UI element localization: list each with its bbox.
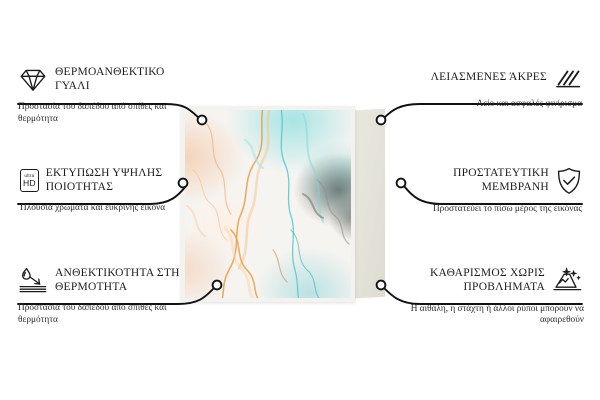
feature-callout-heat-resistant-glass: ΘΕΡΜΟΑΝΘΕΚΤΙΚΟ ΓΥΑΛΙ Προστασία του δαπέδ… (18, 66, 186, 125)
feature-title: ΚΑΘΑΡΙΣΜΟΣ ΧΩΡΙΣ ΠΡΟΒΛΗΜΑΤΑ (398, 267, 545, 294)
artwork-veins (185, 110, 351, 298)
glass-panel-front (181, 106, 355, 302)
feature-callout-heat-durability: ΑΝΘΕΚΤΙΚΟΤΗΤΑ ΣΤΗ ΘΕΡΜΟΤΗΤΑ Προστασία το… (18, 267, 188, 326)
feature-callout-easy-cleaning: ΚΑΘΑΡΙΣΜΟΣ ΧΩΡΙΣ ΠΡΟΒΛΗΜΑΤΑ Η αιθάλη, η … (398, 267, 584, 327)
connector-dot-5 (397, 179, 406, 188)
feature-title: ΠΡΟΣΤΑΤΕΥΤΙΚΗ ΜΕΜΒΡΑΝΗ (412, 167, 549, 194)
ultra-hd-icon-bottom-label: HD (23, 179, 36, 188)
infographic-canvas: ΘΕΡΜΟΑΝΘΕΚΤΙΚΟ ΓΥΑΛΙ Προστασία του δαπέδ… (0, 0, 600, 400)
flame-on-floor-icon (18, 267, 48, 294)
feature-title: ΘΕΡΜΟΑΝΘΕΚΤΙΚΟ ΓΥΑΛΙ (55, 66, 186, 93)
shield-check-icon (556, 167, 582, 195)
feature-description: Λείο και ασφαλές φινίρισμα (412, 99, 582, 110)
feature-description: Προστασία του δαπέδου από σπίθες και θερ… (18, 102, 186, 125)
feature-title: ΛΕΙΑΣΜΕΝΕΣ ΆΚΡΕΣ (431, 71, 547, 85)
feature-title: ΑΝΘΕΚΤΙΚΟΤΗΤΑ ΣΤΗ ΘΕΡΜΟΤΗΤΑ (55, 267, 188, 294)
diamond-icon (18, 67, 48, 93)
feature-description: Προστατεύει το πίσω μέρος της εικόνας (412, 204, 582, 215)
feature-callout-high-quality-print: ultra HD ΕΚΤΥΠΩΣΗ ΥΨΗΛΗΣ ΠΟΙΟΤΗΤΑΣ Πλούσ… (20, 167, 188, 215)
product-image (181, 106, 397, 304)
artwork-abstract-marble (185, 110, 351, 298)
feature-callout-protective-membrane: ΠΡΟΣΤΑΤΕΥΤΙΚΗ ΜΕΜΒΡΑΝΗ Προστατεύει το πί… (412, 167, 582, 215)
feature-callout-polished-edges: ΛΕΙΑΣΜΕΝΕΣ ΆΚΡΕΣ Λείο και ασφαλές φινίρι… (412, 66, 582, 110)
feature-description: Η αιθάλη, η στάχτη ή άλλοι ρύποι μπορούν… (398, 304, 584, 327)
feature-title: ΕΚΤΥΠΩΣΗ ΥΨΗΛΗΣ ΠΟΙΟΤΗΤΑΣ (46, 167, 188, 194)
feature-description: Πλούσια χρώματα και ευκρινής εικόνα (20, 203, 188, 214)
feature-description: Προστασία του δαπέδου από σπίθες και θερ… (18, 303, 188, 326)
polished-edges-icon (554, 66, 582, 90)
sparkle-wipe-icon (552, 267, 584, 295)
ultra-hd-icon: ultra HD (20, 169, 39, 192)
